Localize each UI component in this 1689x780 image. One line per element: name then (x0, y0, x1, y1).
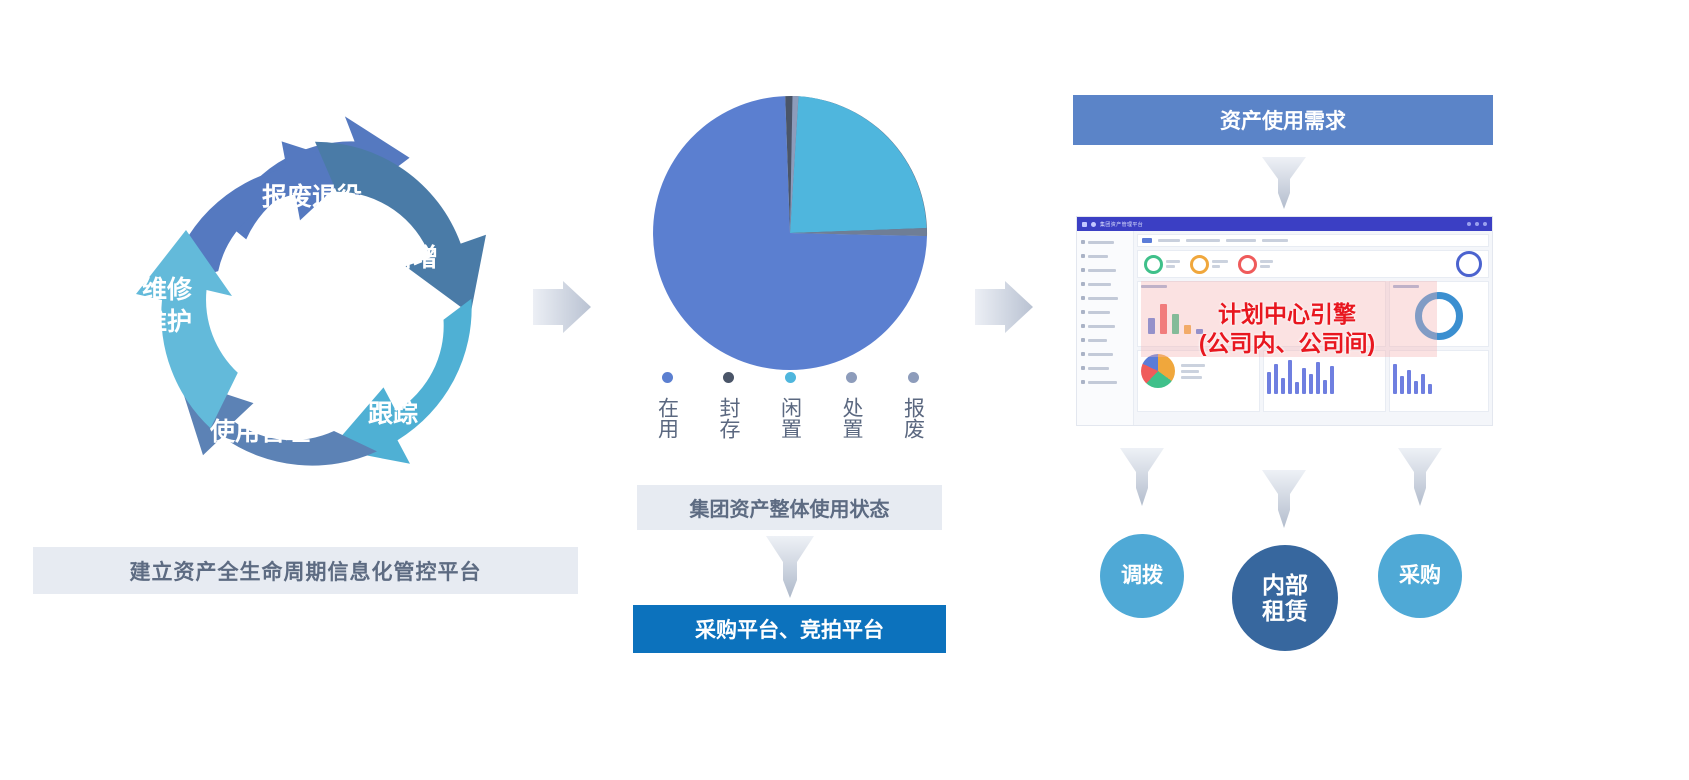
spark-group (1393, 354, 1485, 394)
action-circle-internal-lease[interactable]: 内部 租赁 (1232, 545, 1338, 651)
kpi-row (1137, 250, 1489, 278)
sidebar-item[interactable] (1077, 277, 1133, 291)
ring-icon (1238, 255, 1257, 274)
legend-item[interactable]: 闲置 (768, 372, 812, 439)
down-funnel-icon (1398, 448, 1442, 506)
spark-group (1267, 354, 1382, 394)
plan-center-engine-overlay: 计划中心引擎 (公司内、公司间) (1141, 300, 1433, 358)
sidebar-item[interactable] (1077, 249, 1133, 263)
legend-label: 闲置 (777, 397, 804, 439)
action-label-purchase: 采购 (1399, 564, 1441, 588)
pie-svg (645, 88, 935, 378)
tab-item[interactable] (1226, 239, 1256, 242)
legend-item[interactable]: 在用 (645, 372, 689, 439)
dashboard-tabbar[interactable] (1137, 234, 1489, 247)
sidebar-item[interactable] (1077, 305, 1133, 319)
gauge-icon (1456, 251, 1482, 277)
pie-legend: 在用 封存 闲置 处置 报废 (645, 372, 935, 456)
segment-path-new[interactable] (315, 142, 486, 314)
action-circle-purchase[interactable]: 采购 (1378, 534, 1462, 618)
flow-arrow-down-purchase (1398, 448, 1442, 506)
legend-dot-icon (846, 372, 857, 383)
right-arrow-icon (533, 281, 591, 333)
down-funnel-icon (1262, 470, 1306, 528)
flow-arrow-down-allocate (1120, 448, 1164, 506)
action-label-allocate: 调拨 (1121, 564, 1163, 588)
action-label-lease-l2: 租赁 (1262, 598, 1308, 624)
cycle-label-status-l2: 跟踪 (368, 399, 418, 428)
legend-label: 报废 (900, 397, 927, 439)
legend-label: 封存 (715, 397, 742, 439)
kpi-card[interactable] (1238, 255, 1273, 274)
gear-icon[interactable] (1475, 222, 1479, 226)
procurement-platform-banner: 采购平台、竞拍平台 (633, 605, 946, 653)
sidebar-item[interactable] (1077, 333, 1133, 347)
legend-dot-icon (908, 372, 919, 383)
infographic-canvas: 报废退役 新增 状态 跟踪 使用管理 维修 维护 建立资产全生命周期信息化管控平… (0, 0, 1689, 780)
sidebar-item[interactable] (1077, 347, 1133, 361)
action-circle-allocate[interactable]: 调拨 (1100, 534, 1184, 618)
sidebar-item[interactable] (1077, 263, 1133, 277)
sidebar-item[interactable] (1077, 319, 1133, 333)
tab-active[interactable] (1142, 238, 1152, 243)
user-avatar[interactable] (1483, 222, 1487, 226)
left-banner: 建立资产全生命周期信息化管控平台 (33, 547, 578, 594)
logo-icon (1091, 222, 1096, 227)
tab-item[interactable] (1186, 239, 1220, 242)
bell-icon[interactable] (1467, 222, 1471, 226)
pie-slice-xianzhi[interactable] (790, 96, 927, 233)
procurement-platform-text: 采购平台、竞拍平台 (695, 614, 884, 644)
legend-dot-icon (662, 372, 673, 383)
sidebar-item[interactable] (1077, 375, 1133, 389)
flow-arrow-down-demand (1262, 157, 1306, 209)
ring-icon (1190, 255, 1209, 274)
overlay-line-1: 计划中心引擎 (1141, 300, 1433, 329)
legend-label: 在用 (654, 397, 681, 439)
ring-icon (1144, 255, 1163, 274)
dashboard-titlebar: 集团资产管理平台 (1077, 217, 1492, 231)
asset-lifecycle-cycle: 报废退役 新增 状态 跟踪 使用管理 维修 维护 (110, 110, 530, 510)
legend-dot-icon (785, 372, 796, 383)
dashboard-sidebar[interactable] (1077, 231, 1134, 425)
charts-row-2 (1137, 350, 1489, 412)
spark-chart-card-2[interactable] (1389, 350, 1489, 412)
kpi-card[interactable] (1190, 255, 1228, 274)
down-funnel-icon (1120, 448, 1164, 506)
pie-icon (1141, 354, 1175, 388)
kpi-card[interactable] (1144, 255, 1180, 274)
flow-arrow-down-mid (766, 536, 814, 598)
cycle-label-scrap: 报废退役 (262, 182, 362, 211)
left-banner-text: 建立资产全生命周期信息化管控平台 (130, 556, 482, 586)
action-label-lease-l1: 内部 (1262, 572, 1308, 598)
spark-chart-card[interactable] (1263, 350, 1386, 412)
cycle-label-usage: 使用管理 (209, 417, 310, 446)
flow-arrow-1 (533, 281, 591, 338)
legend-dot-icon (723, 372, 734, 383)
right-arrow-icon (975, 281, 1033, 333)
down-funnel-icon (766, 536, 814, 598)
tab-item[interactable] (1262, 239, 1288, 242)
cycle-label-maintain-l2: 维护 (142, 307, 192, 336)
cycle-label-maintain-l1: 维修 (142, 275, 193, 304)
flow-arrow-down-lease (1262, 470, 1306, 528)
pie-chart-card[interactable] (1137, 350, 1260, 412)
cycle-label-status-l1: 状态 (368, 368, 418, 396)
cycle-label-new: 新增 (388, 243, 438, 272)
flow-arrow-2 (975, 281, 1033, 338)
asset-demand-text: 资产使用需求 (1220, 105, 1346, 135)
sidebar-item[interactable] (1077, 361, 1133, 375)
menu-icon[interactable] (1082, 222, 1087, 227)
sidebar-item[interactable] (1077, 291, 1133, 305)
overlay-line-2: (公司内、公司间) (1141, 329, 1433, 358)
tab-item[interactable] (1158, 239, 1180, 242)
sidebar-item[interactable] (1077, 235, 1133, 249)
asset-demand-banner: 资产使用需求 (1073, 95, 1493, 145)
legend-item[interactable]: 封存 (707, 372, 751, 439)
cycle-diagram-svg: 报废退役 新增 状态 跟踪 使用管理 维修 维护 (110, 110, 530, 510)
down-funnel-icon (1262, 157, 1306, 209)
legend-item[interactable]: 处置 (830, 372, 874, 439)
asset-status-pie-chart (645, 88, 935, 378)
dashboard-title: 集团资产管理平台 (1100, 221, 1143, 228)
legend-label: 处置 (838, 397, 865, 439)
legend-item[interactable]: 报废 (891, 372, 935, 439)
group-asset-status-banner: 集团资产整体使用状态 (637, 485, 942, 530)
group-asset-status-text: 集团资产整体使用状态 (690, 493, 890, 522)
